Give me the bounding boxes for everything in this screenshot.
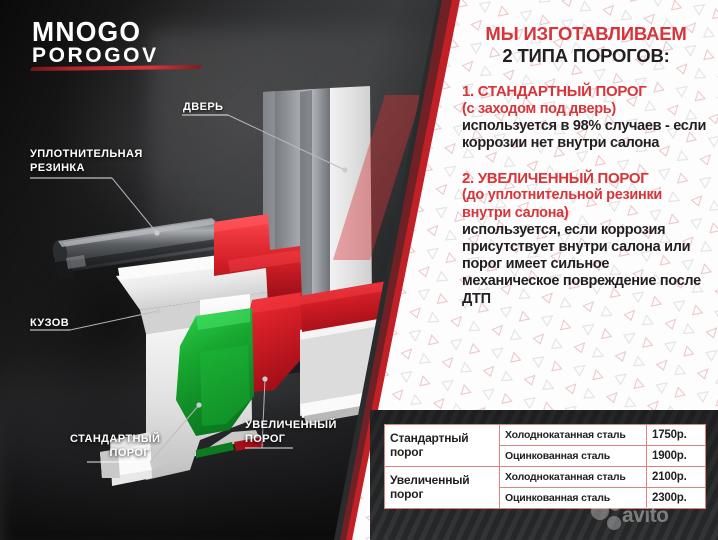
price-table: Стандартный порог Холоднокатанная сталь … <box>384 424 706 509</box>
price-row-material: Оцинкованная сталь <box>500 488 647 509</box>
sill-type-body-extended: используется, если коррозия присутствует… <box>462 222 710 308</box>
callout-label-seal: УПЛОТНИТЕЛЬНАЯ РЕЗИНКА <box>30 148 143 176</box>
headline-secondary: 2 ТИПА ПОРОГОВ: <box>462 46 710 67</box>
callout-label-standard-sill: СТАНДАРТНЫЙ ПОРОГ <box>70 433 150 461</box>
price-row-material: Холоднокатанная сталь <box>500 467 647 488</box>
headline-primary: МЫ ИЗГОТАВЛИВАЕМ <box>462 24 710 45</box>
table-row: Увеличенный порог Холоднокатанная сталь … <box>385 467 706 488</box>
price-row-material: Холоднокатанная сталь <box>500 425 647 446</box>
sill-type-title-extended: 2. УВЕЛИЧЕННЫЙ ПОРОГ <box>462 170 710 188</box>
advertisement-banner: ДВЕРЬ УПЛОТНИТЕЛЬНАЯ РЕЗИНКА КУЗОВ СТАНД… <box>0 0 718 540</box>
price-row-price: 2100р. <box>647 467 706 488</box>
sill-type-block-extended: 2. УВЕЛИЧЕННЫЙ ПОРОГ (до уплотнительной … <box>462 170 710 308</box>
callout-label-body: КУЗОВ <box>30 317 69 331</box>
callout-label-extended-sill: УВЕЛИЧЕННЫЙ ПОРОГ <box>245 419 337 447</box>
sill-type-block-standard: 1. СТАНДАРТНЫЙ ПОРОГ (с заходом под двер… <box>462 83 710 152</box>
sill-type-subtitle-extended: (до уплотнительной резинки внутри салона… <box>462 187 710 221</box>
price-row-material: Оцинкованная сталь <box>500 446 647 467</box>
price-row-price: 1750р. <box>647 425 706 446</box>
price-row-name: Увеличенный порог <box>385 467 500 509</box>
sill-type-title-standard: 1. СТАНДАРТНЫЙ ПОРОГ <box>462 83 710 101</box>
table-row: Стандартный порог Холоднокатанная сталь … <box>385 425 706 446</box>
sill-type-body-standard: используется в 98% случаев - если корроз… <box>462 118 710 153</box>
brand-logo-line2: POROGOV <box>32 44 159 67</box>
brand-logo-line1: MNOGO <box>32 15 141 47</box>
brand-logo: MNOGO POROGOV <box>30 14 210 72</box>
price-row-price: 1900р. <box>647 446 706 467</box>
info-panel-content: МЫ ИЗГОТАВЛИВАЕМ 2 ТИПА ПОРОГОВ: 1. СТАН… <box>462 24 710 308</box>
sill-type-subtitle-standard: (с заходом под дверь) <box>462 101 710 118</box>
callout-label-door: ДВЕРЬ <box>183 101 223 115</box>
price-row-name: Стандартный порог <box>385 425 500 467</box>
price-row-price: 2300р. <box>647 488 706 509</box>
price-table-container: Стандартный порог Холоднокатанная сталь … <box>370 410 718 540</box>
